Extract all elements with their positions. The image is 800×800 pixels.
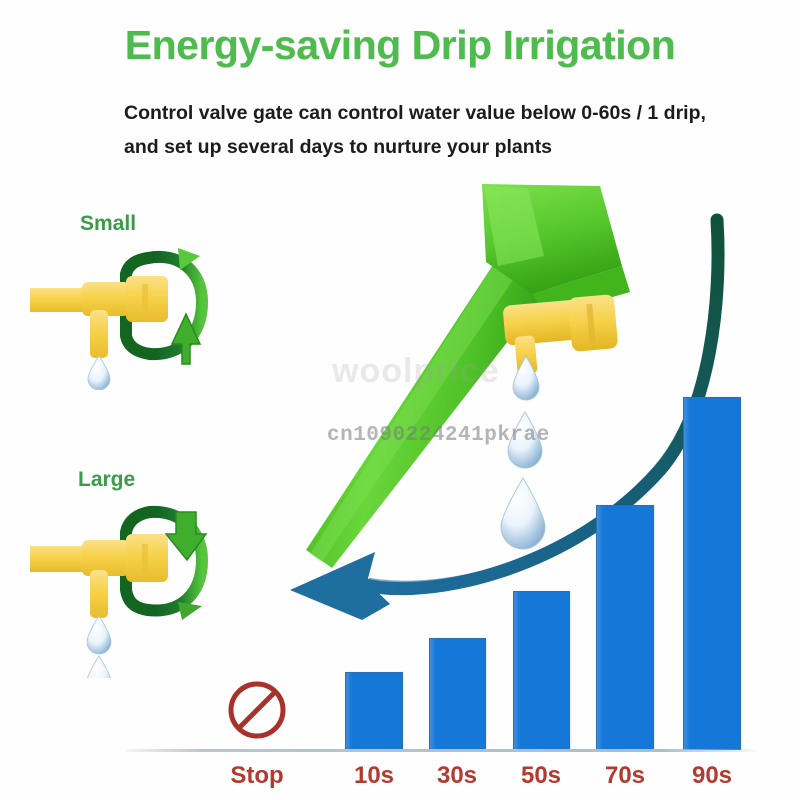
tick-label-30s: 30s	[412, 762, 502, 790]
bar-10s	[345, 672, 403, 750]
bar-30s	[429, 638, 486, 750]
bar-chart: Stop10s30s50s70s90s	[0, 0, 800, 800]
tick-label-10s: 10s	[329, 762, 419, 790]
tick-label-90s: 90s	[667, 762, 757, 790]
chart-baseline	[125, 749, 757, 752]
bar-50s	[513, 591, 570, 750]
prohibition-icon	[225, 678, 289, 742]
tick-label-70s: 70s	[580, 762, 670, 790]
tick-label-Stop: Stop	[212, 762, 302, 790]
product-infographic: Energy-saving Drip Irrigation Control va…	[0, 0, 800, 800]
bar-90s	[683, 397, 741, 750]
tick-label-50s: 50s	[496, 762, 586, 790]
bar-70s	[596, 505, 654, 750]
